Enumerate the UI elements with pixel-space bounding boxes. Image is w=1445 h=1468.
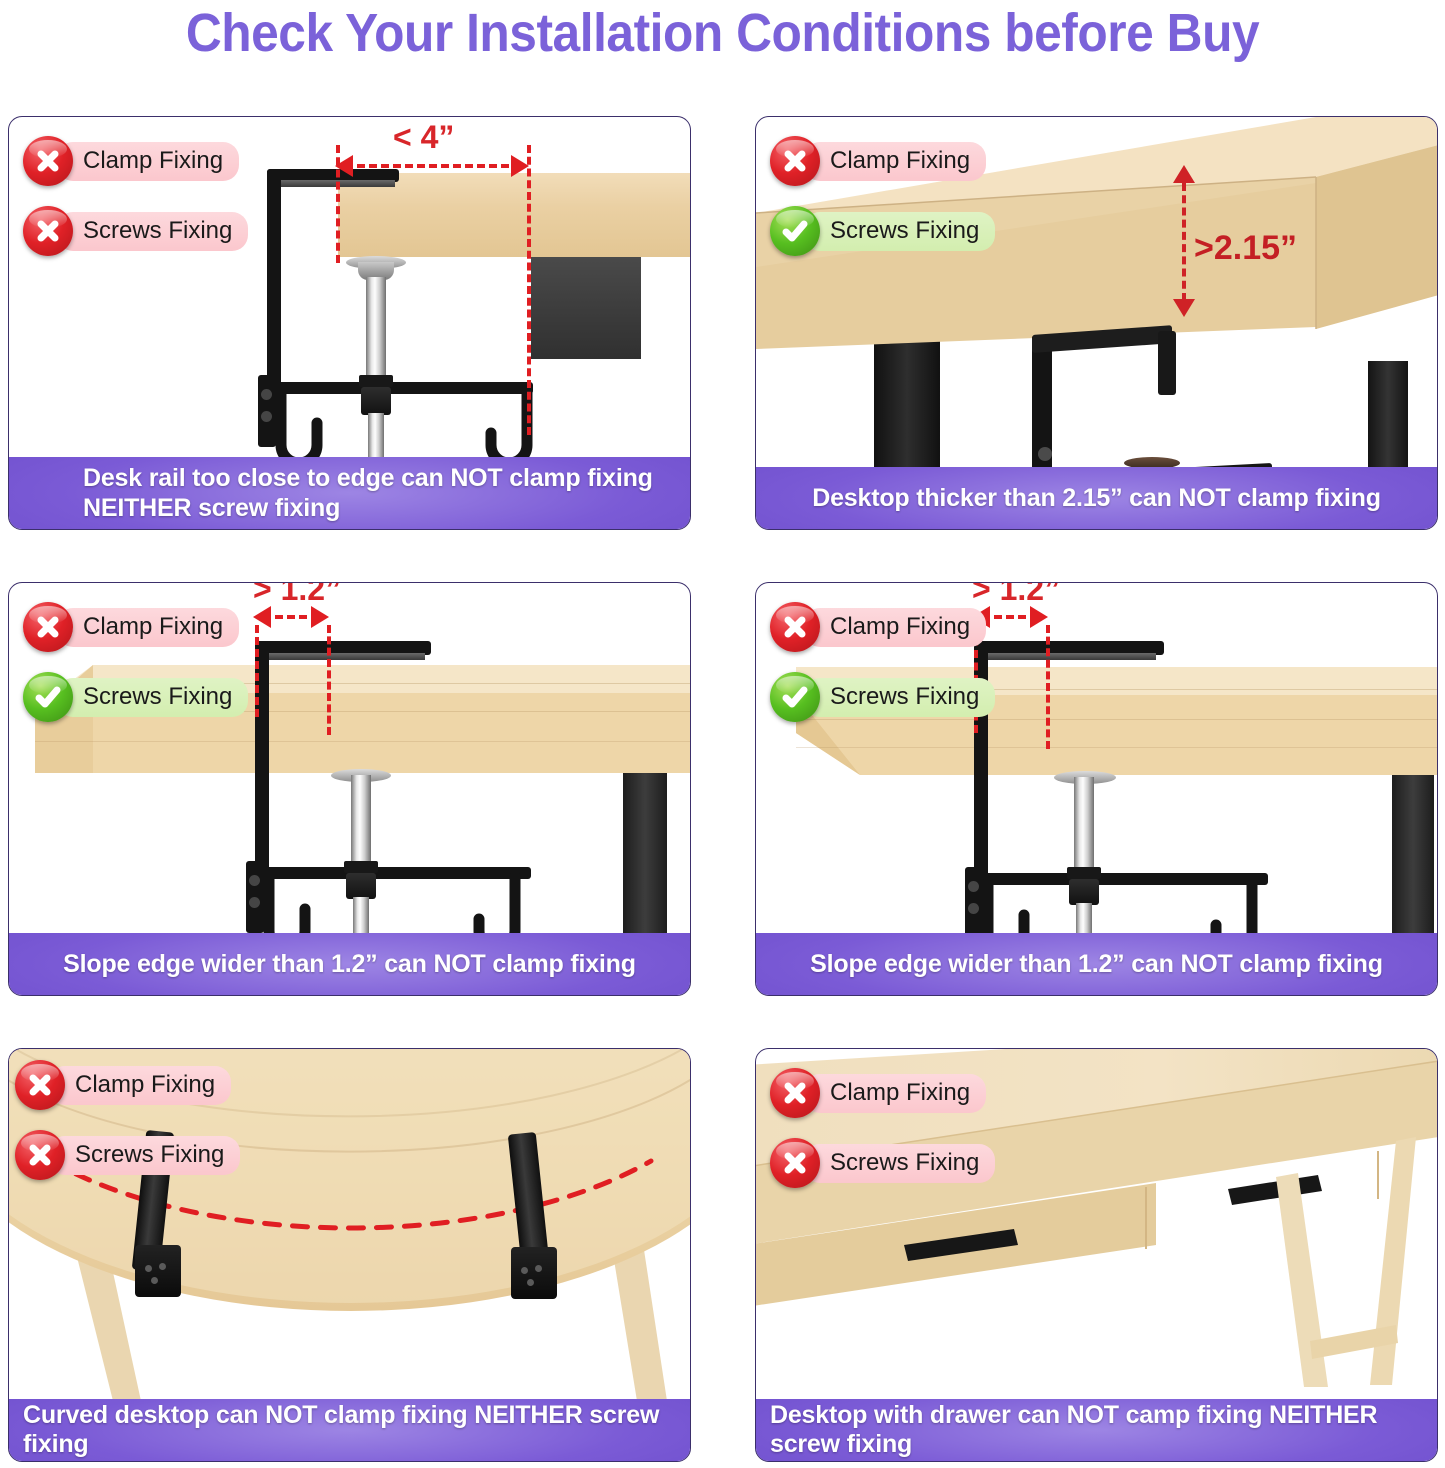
dimension-label: < 4”	[393, 119, 454, 156]
conditions-grid: < 4” Clamp Fixing Screws Fixing Desk rai…	[8, 116, 1438, 1462]
check-icon	[23, 672, 73, 722]
panel-slope-edge-left: > 1.2” Clamp Fixing Screws Fixing Slope …	[8, 582, 691, 996]
panel-caption: Slope edge wider than 1.2” can NOT clamp…	[9, 933, 690, 995]
badge-label: Screws Fixing	[49, 1136, 240, 1175]
dim-arrow-line	[345, 164, 521, 168]
clamp-bracket-left-foot	[135, 1245, 181, 1297]
caption-line-1: Slope edge wider than 1.2” can NOT clamp…	[63, 950, 636, 979]
panel-caption: Slope edge wider than 1.2” can NOT clamp…	[756, 933, 1437, 995]
badge-screws-fixing: Screws Fixing	[15, 1133, 240, 1177]
badge-clamp-fixing: Clamp Fixing	[23, 605, 248, 649]
panel-desktop-too-thick: >2.15” Clamp Fixing Screws Fixing Deskto…	[755, 116, 1438, 530]
bracket-screw-5	[535, 1265, 542, 1272]
badge-clamp-fixing: Clamp Fixing	[770, 139, 995, 183]
badge-label: Clamp Fixing	[57, 142, 239, 181]
dimension-label: > 1.2”	[253, 582, 341, 608]
badge-label: Clamp Fixing	[804, 142, 986, 181]
clamp-top-lip	[1158, 331, 1176, 395]
screw-nut-top	[359, 375, 393, 387]
cross-icon	[15, 1130, 65, 1180]
dim-arrow-head-right	[311, 606, 329, 628]
badge-clamp-fixing: Clamp Fixing	[23, 139, 248, 183]
panel-caption: Desktop with drawer can NOT camp fixing …	[756, 1399, 1437, 1461]
panel-desk-rail-too-close: < 4” Clamp Fixing Screws Fixing Desk rai…	[8, 116, 691, 530]
panel-curved-desktop: Clamp Fixing Screws Fixing Curved deskto…	[8, 1048, 691, 1462]
cross-icon	[23, 136, 73, 186]
screw-shaft-upper	[1074, 777, 1094, 877]
cross-icon	[770, 1068, 820, 1118]
dim-guide-right	[327, 625, 331, 735]
panel-slope-edge-right: > 1.2” Clamp Fixing Screws Fixing Slope …	[755, 582, 1438, 996]
screw-nut	[361, 387, 391, 415]
badge-label: Clamp Fixing	[804, 1074, 986, 1113]
badge-clamp-fixing: Clamp Fixing	[15, 1063, 240, 1107]
badge-screws-fixing: Screws Fixing	[770, 1141, 995, 1185]
dim-vertical-line	[1182, 183, 1186, 301]
screw-nut	[1069, 879, 1099, 905]
badge-clamp-fixing: Clamp Fixing	[770, 1071, 995, 1115]
badge-screws-fixing: Screws Fixing	[770, 209, 995, 253]
badge-group: Clamp Fixing Screws Fixing	[23, 605, 248, 745]
dim-arrow-head-left	[253, 606, 271, 628]
badge-label: Clamp Fixing	[49, 1066, 231, 1105]
badge-label: Clamp Fixing	[804, 608, 986, 647]
dim-arrow-head-up	[1173, 165, 1195, 183]
clamp-top-pad	[984, 653, 1156, 660]
bracket-screw-4	[521, 1267, 528, 1274]
check-icon	[770, 206, 820, 256]
screw-nut-top	[344, 861, 378, 873]
bracket-screw-2	[159, 1263, 166, 1270]
cross-icon	[770, 1138, 820, 1188]
caption-line-1: Slope edge wider than 1.2” can NOT clamp…	[810, 950, 1383, 979]
panel-desktop-with-drawer: Clamp Fixing Screws Fixing Desktop with …	[755, 1048, 1438, 1462]
badge-screws-fixing: Screws Fixing	[23, 675, 248, 719]
dim-guide-left	[255, 625, 259, 717]
cross-icon	[770, 136, 820, 186]
dim-guide-right	[527, 145, 531, 435]
badge-group: Clamp Fixing Screws Fixing	[15, 1063, 240, 1203]
dim-guide-right	[1046, 625, 1050, 749]
caption-line-1: Desk rail too close to edge can NOT clam…	[83, 463, 653, 493]
badge-label: Screws Fixing	[57, 678, 248, 717]
badge-label: Screws Fixing	[57, 212, 248, 251]
bracket-screw-3	[151, 1277, 158, 1284]
check-icon	[770, 672, 820, 722]
caption-line-1: Curved desktop can NOT clamp fixing NEIT…	[23, 1401, 676, 1459]
badge-clamp-fixing: Clamp Fixing	[770, 605, 995, 649]
cross-icon	[23, 602, 73, 652]
caption-line-1: Desktop with drawer can NOT camp fixing …	[770, 1401, 1423, 1459]
clamp-spine	[267, 169, 281, 387]
badge-label: Screws Fixing	[804, 678, 995, 717]
cross-icon	[770, 602, 820, 652]
badge-group: Clamp Fixing Screws Fixing	[770, 605, 995, 745]
caption-line-2: NEITHER screw fixing	[83, 493, 653, 523]
badge-screws-fixing: Screws Fixing	[23, 209, 248, 253]
dim-arrow-head-right	[1030, 606, 1048, 628]
cross-icon	[15, 1060, 65, 1110]
dimension-label: >2.15”	[1194, 229, 1297, 268]
screw-hole-1	[1038, 447, 1052, 461]
badge-label: Screws Fixing	[804, 1144, 995, 1183]
screw-shaft-upper	[366, 277, 386, 387]
clamp-bracket-right-foot	[511, 1247, 557, 1299]
cross-icon	[23, 206, 73, 256]
badge-group: Clamp Fixing Screws Fixing	[770, 1071, 995, 1211]
badge-label: Clamp Fixing	[57, 608, 239, 647]
desk-rail-block	[531, 257, 641, 359]
screw-shaft-upper	[351, 775, 371, 871]
badge-group: Clamp Fixing Screws Fixing	[23, 139, 248, 279]
panel-caption: Curved desktop can NOT clamp fixing NEIT…	[9, 1399, 690, 1461]
badge-group: Clamp Fixing Screws Fixing	[770, 139, 995, 279]
badge-label: Screws Fixing	[804, 212, 995, 251]
dim-arrow-head-right	[511, 155, 529, 177]
panel-caption: Desk rail too close to edge can NOT clam…	[9, 457, 690, 529]
caption-line-1: Desktop thicker than 2.15” can NOT clamp…	[812, 484, 1381, 513]
badge-screws-fixing: Screws Fixing	[770, 675, 995, 719]
bracket-screw-1	[145, 1265, 152, 1272]
screw-nut	[346, 873, 376, 899]
screw-nut-top	[1067, 867, 1101, 879]
dim-arrow-head-left	[335, 155, 353, 177]
page-title: Check Your Installation Conditions befor…	[58, 0, 1387, 66]
dim-arrow-head-down	[1173, 299, 1195, 317]
bracket-screw-6	[527, 1279, 534, 1286]
panel-caption: Desktop thicker than 2.15” can NOT clamp…	[756, 467, 1437, 529]
clamp-top-pad	[265, 653, 425, 660]
